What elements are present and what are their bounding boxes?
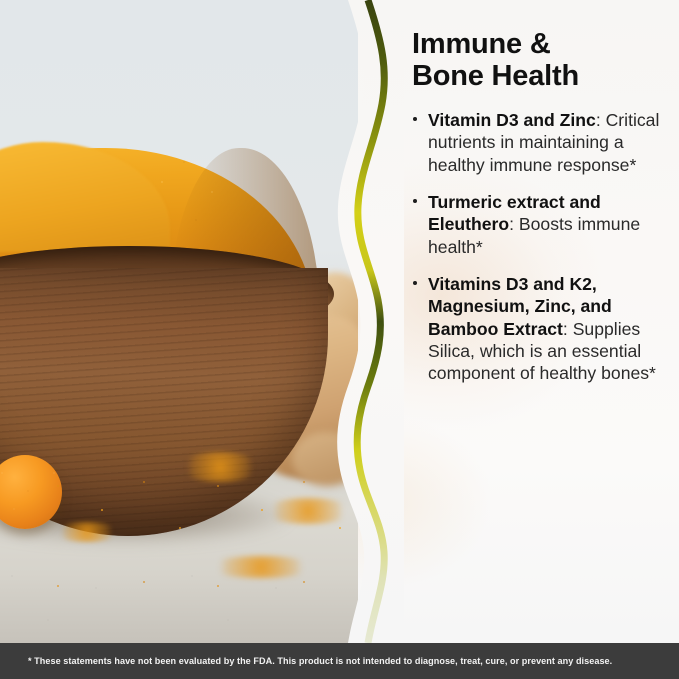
powder-clump	[206, 556, 316, 578]
benefits-content: Immune &Bone Health Vitamin D3 and Zinc:…	[412, 28, 662, 385]
list-item: Vitamin D3 and Zinc: Critical nutrients …	[412, 109, 662, 176]
disclaimer-footer: * These statements have not been evaluat…	[0, 643, 679, 679]
benefits-list: Vitamin D3 and Zinc: Critical nutrients …	[412, 109, 662, 385]
bullet-icon	[413, 117, 417, 121]
benefits-text-panel: Immune &Bone Health Vitamin D3 and Zinc:…	[358, 0, 679, 643]
list-item: Turmeric extract and Eleuthero: Boosts i…	[412, 191, 662, 258]
list-item: Vitamins D3 and K2, Magnesium, Zinc, and…	[412, 273, 662, 385]
powder-clump	[262, 498, 354, 524]
powder-clump	[178, 452, 262, 482]
page-title-line-2: Bone Health	[412, 60, 579, 92]
page-title: Immune &Bone Health	[412, 28, 662, 93]
bullet-icon	[413, 199, 417, 203]
turmeric-bowl-photo	[0, 0, 358, 643]
page-title-line-1: Immune &	[412, 28, 551, 60]
benefit-lead: Vitamin D3 and Zinc	[428, 110, 596, 130]
product-benefits-infographic: Immune &Bone Health Vitamin D3 and Zinc:…	[0, 0, 679, 679]
bullet-icon	[413, 281, 417, 285]
powder-clump	[54, 522, 120, 542]
fda-disclaimer-text: * These statements have not been evaluat…	[0, 656, 612, 667]
